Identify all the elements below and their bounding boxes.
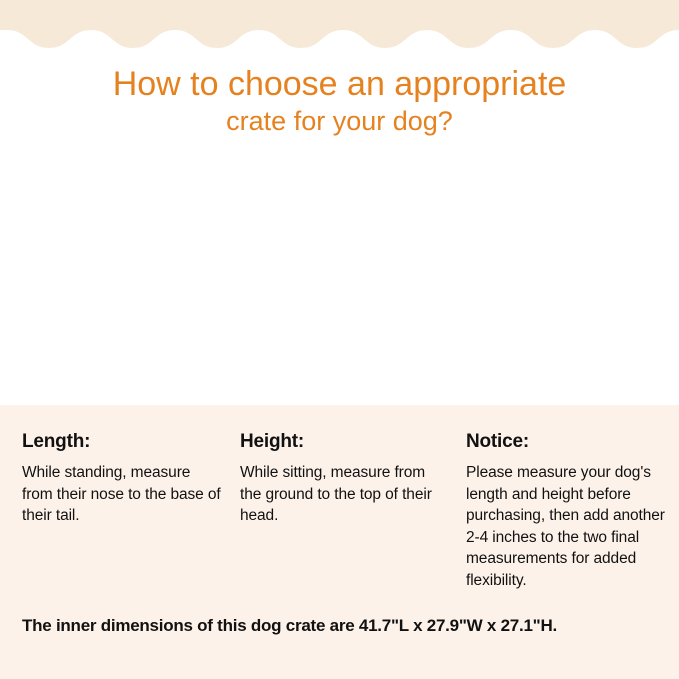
length-heading: Length:: [22, 431, 222, 453]
info-column-height: Height: While sitting, measure from the …: [240, 431, 445, 527]
info-column-length: Length: While standing, measure from the…: [22, 431, 222, 527]
infographic-page: How to choose an appropriate crate for y…: [0, 0, 679, 679]
notice-body-text: Please measure your dog's length and hei…: [466, 462, 666, 591]
scalloped-top-band: [0, 0, 679, 60]
title-line-2: crate for your dog?: [0, 104, 679, 138]
page-title: How to choose an appropriate crate for y…: [0, 64, 679, 138]
height-heading: Height:: [240, 431, 445, 453]
title-line-1: How to choose an appropriate: [0, 64, 679, 104]
length-body-text: While standing, measure from their nose …: [22, 462, 222, 527]
illustration-area: Length Height: [0, 195, 679, 405]
crate-dimensions-line: The inner dimensions of this dog crate a…: [22, 616, 662, 636]
info-panel: Length: While standing, measure from the…: [0, 405, 679, 679]
height-body-text: While sitting, measure from the ground t…: [240, 462, 445, 527]
notice-heading: Notice:: [466, 431, 666, 453]
info-column-notice: Notice: Please measure your dog's length…: [466, 431, 666, 591]
